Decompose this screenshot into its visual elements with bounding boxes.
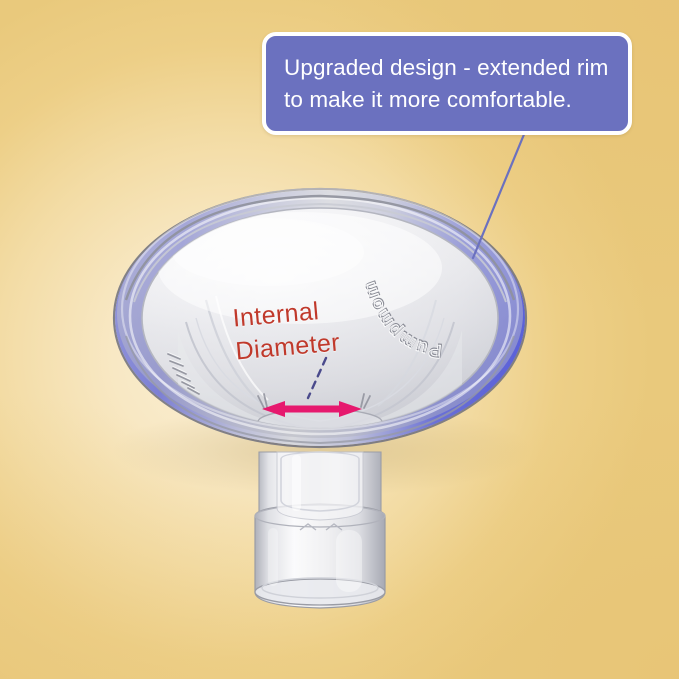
callout-box[interactable]: Upgraded design - extended rim to make i… xyxy=(262,32,632,135)
callout-line-2: to make it more comfortable. xyxy=(284,84,608,116)
callout-text: Upgraded design - extended rim to make i… xyxy=(284,52,608,115)
internal-diameter-label-text: Internal Diameter xyxy=(232,297,341,365)
svg-text:Pumpmom: Pumpmom xyxy=(358,279,442,360)
callout-line-1: Upgraded design - extended rim xyxy=(284,52,608,84)
product-image-canvas: Pumpmom Pumpmom Internal Diameter Upgrad… xyxy=(0,0,679,679)
brand-logo-emboss: Pumpmom Pumpmom xyxy=(352,268,452,360)
internal-diameter-label: Internal Diameter xyxy=(231,294,341,368)
